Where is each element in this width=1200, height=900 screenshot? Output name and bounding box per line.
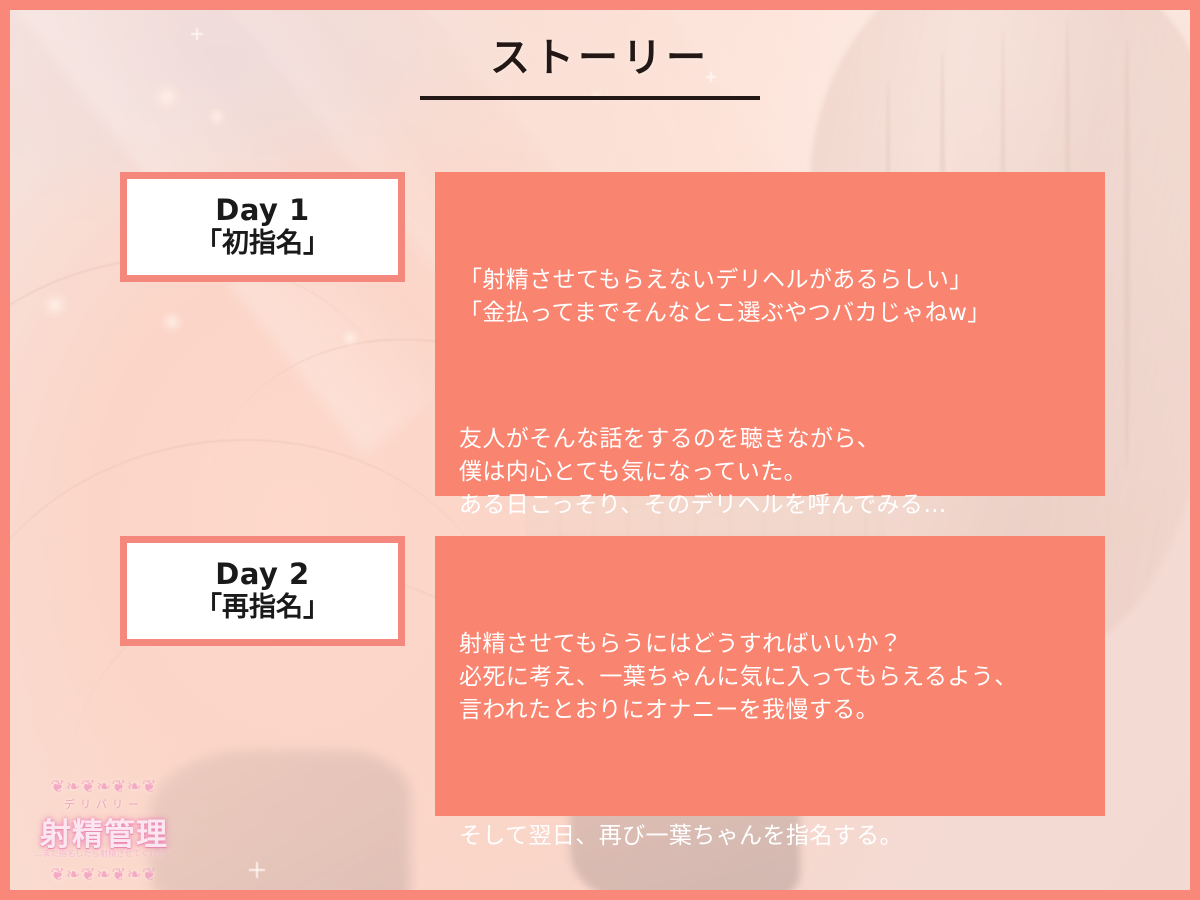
logo-ornament-top: ❦❧❦❧❦❧❦: [18, 776, 190, 798]
page-title: ストーリー: [420, 36, 780, 80]
story-paragraph: 友人がそんな話をするのを聴きながら、 僕は内心とても気になっていた。 ある日こっ…: [459, 423, 1083, 522]
story-paragraph: 射精させてもらうにはどうすればいいか？ 必死に考え、一葉ちゃんに気に入ってもらえ…: [459, 628, 1083, 727]
day-subtitle-2: 「再指名」: [195, 592, 330, 623]
story-text-panel-1: 「射精させてもらえないデリヘルがあるらしい」 「金払ってまでそんなとこ選ぶやつバ…: [435, 172, 1105, 496]
day-label-box-1: Day 1 「初指名」: [120, 172, 405, 282]
day-label-2: Day 2: [215, 559, 309, 589]
story-paragraph: 「射精させてもらえないデリヘルがあるらしい」 「金払ってまでそんなとこ選ぶやつバ…: [459, 264, 1083, 330]
story-text-panel-2: 射精させてもらうにはどうすればいいか？ 必死に考え、一葉ちゃんに気に入ってもらえ…: [435, 536, 1105, 816]
logo-tagline: …また指名したら射精させてくれる？: [18, 848, 190, 859]
story-page: ストーリー Day 1 「初指名」 「射精させてもらえないデリヘルがあるらしい」…: [0, 0, 1200, 900]
day-label-1: Day 1: [215, 195, 309, 225]
page-title-block: ストーリー: [420, 36, 780, 100]
day-subtitle-1: 「初指名」: [195, 228, 330, 259]
story-paragraph: そして翌日、再び一葉ちゃんを指名する。: [459, 820, 1083, 853]
day-label-box-2: Day 2 「再指名」: [120, 536, 405, 646]
logo-ornament-bottom: ❦❧❦❧❦❧❦: [18, 864, 190, 886]
product-logo: ❦❧❦❧❦❧❦ デリバリー 射精管理 …また指名したら射精させてくれる？ ❦❧❦…: [18, 778, 190, 882]
title-underline: [420, 96, 760, 100]
